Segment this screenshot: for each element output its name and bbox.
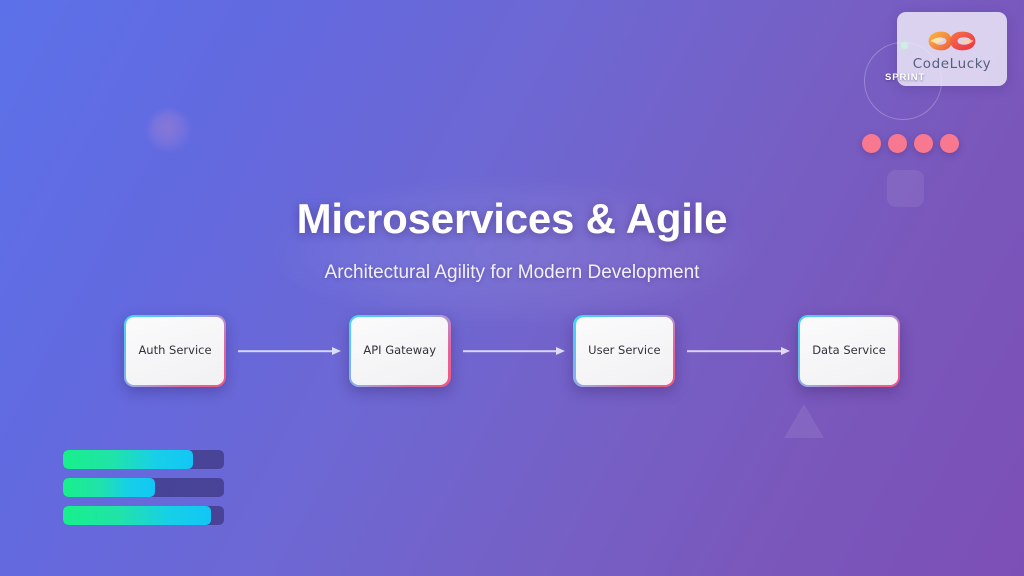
- arrow-right-icon: [234, 345, 341, 357]
- progress-bar-1-fill: [63, 450, 193, 469]
- node-border: Auth Service: [124, 315, 226, 387]
- arrow-head: [332, 347, 341, 355]
- arrow-shaft: [463, 350, 557, 352]
- arrow-shaft: [238, 350, 332, 352]
- slide-canvas: CodeLucky SPRINT Microservices & Agile A…: [0, 0, 1024, 576]
- arrow-shaft: [687, 350, 781, 352]
- flow-node-auth-service[interactable]: Auth Service: [124, 315, 226, 387]
- dot-indicator: [888, 134, 907, 153]
- node-label: Data Service: [812, 344, 886, 358]
- decorative-circle-blob: [148, 110, 190, 152]
- flow-node-user-service[interactable]: User Service: [573, 315, 675, 387]
- progress-bar-3: [63, 506, 224, 525]
- node-border: User Service: [573, 315, 675, 387]
- arrow-right-icon: [459, 345, 566, 357]
- node-label: User Service: [588, 344, 660, 358]
- sprint-badge-label: SPRINT: [885, 72, 925, 83]
- flow-node-api-gateway[interactable]: API Gateway: [349, 315, 451, 387]
- node-label: API Gateway: [363, 344, 436, 358]
- microservices-flow-diagram: Auth Service API Gateway User Service: [124, 315, 900, 387]
- node-body: API Gateway: [351, 317, 448, 384]
- node-body: Data Service: [800, 317, 897, 384]
- node-body: Auth Service: [126, 317, 223, 384]
- arrow-head: [781, 347, 790, 355]
- node-label: Auth Service: [138, 344, 211, 358]
- node-border: API Gateway: [349, 315, 451, 387]
- decorative-triangle: [784, 404, 824, 438]
- progress-bar-group: [63, 450, 224, 525]
- infinity-leaf-icon: [924, 27, 980, 55]
- progress-bar-2-fill: [63, 478, 155, 497]
- dot-indicator: [914, 134, 933, 153]
- node-body: User Service: [576, 317, 673, 384]
- progress-bar-1: [63, 450, 224, 469]
- decorative-dots-row: [862, 134, 959, 153]
- progress-bar-2: [63, 478, 224, 497]
- arrow-head: [556, 347, 565, 355]
- slide-title: Microservices & Agile: [0, 195, 1024, 243]
- flow-node-data-service[interactable]: Data Service: [798, 315, 900, 387]
- brand-name: CodeLucky: [913, 56, 992, 72]
- node-border: Data Service: [798, 315, 900, 387]
- dot-indicator: [862, 134, 881, 153]
- arrow-right-icon: [683, 345, 790, 357]
- progress-bar-3-fill: [63, 506, 211, 525]
- slide-subtitle: Architectural Agility for Modern Develop…: [0, 262, 1024, 284]
- dot-indicator: [940, 134, 959, 153]
